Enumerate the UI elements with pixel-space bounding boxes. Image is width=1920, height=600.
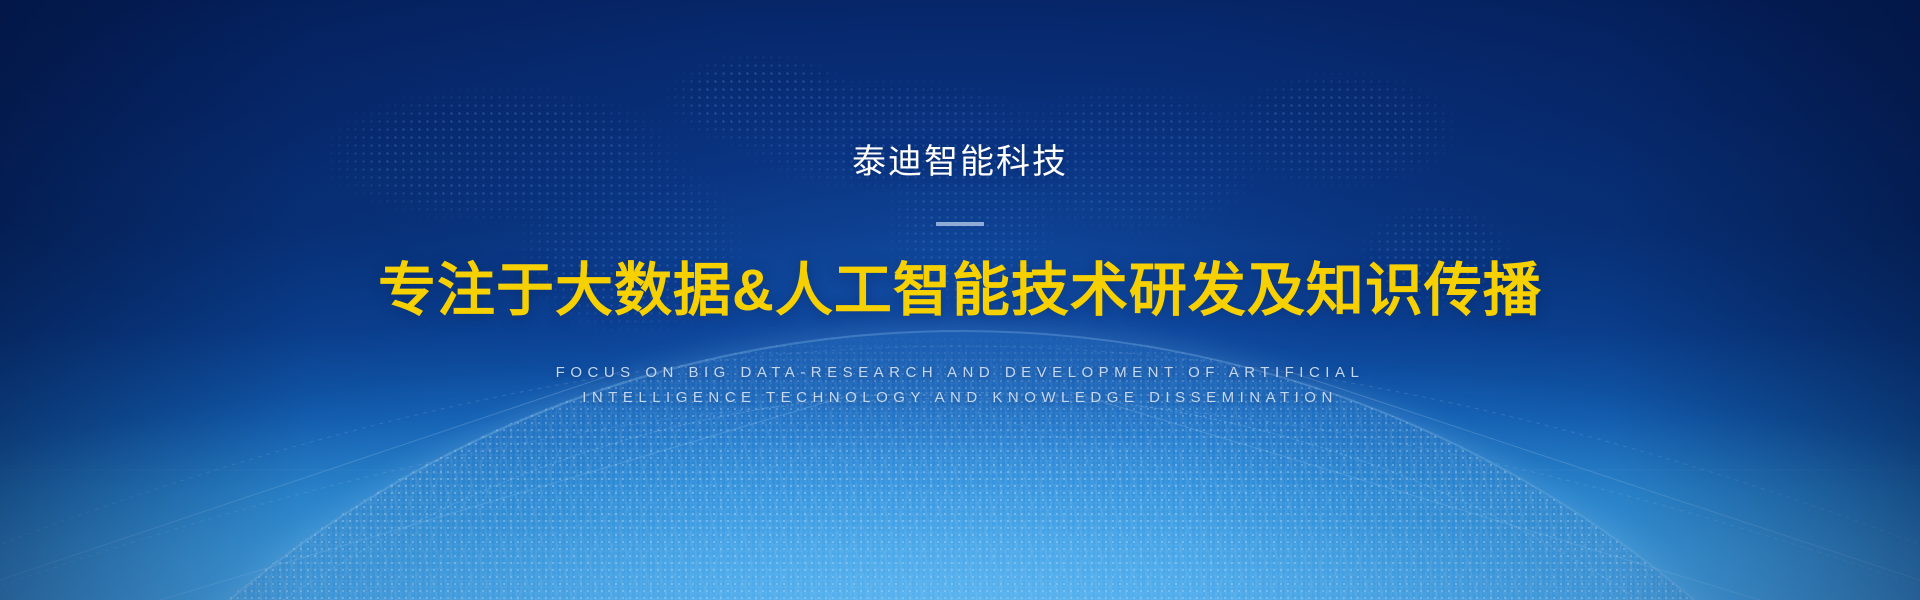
- subtitle-line-1: FOCUS ON BIG DATA-RESEARCH AND DEVELOPME…: [0, 360, 1920, 385]
- subtitle-block: FOCUS ON BIG DATA-RESEARCH AND DEVELOPME…: [0, 360, 1920, 410]
- banner-content: 泰迪智能科技 专注于大数据&人工智能技术研发及知识传播 FOCUS ON BIG…: [0, 0, 1920, 600]
- subtitle-line-2: INTELLIGENCE TECHNOLOGY AND KNOWLEDGE DI…: [0, 385, 1920, 410]
- hero-banner: 泰迪智能科技 专注于大数据&人工智能技术研发及知识传播 FOCUS ON BIG…: [0, 0, 1920, 600]
- brand-name: 泰迪智能科技: [0, 140, 1920, 184]
- page-title: 专注于大数据&人工智能技术研发及知识传播: [0, 253, 1920, 329]
- brand-divider: [936, 222, 984, 226]
